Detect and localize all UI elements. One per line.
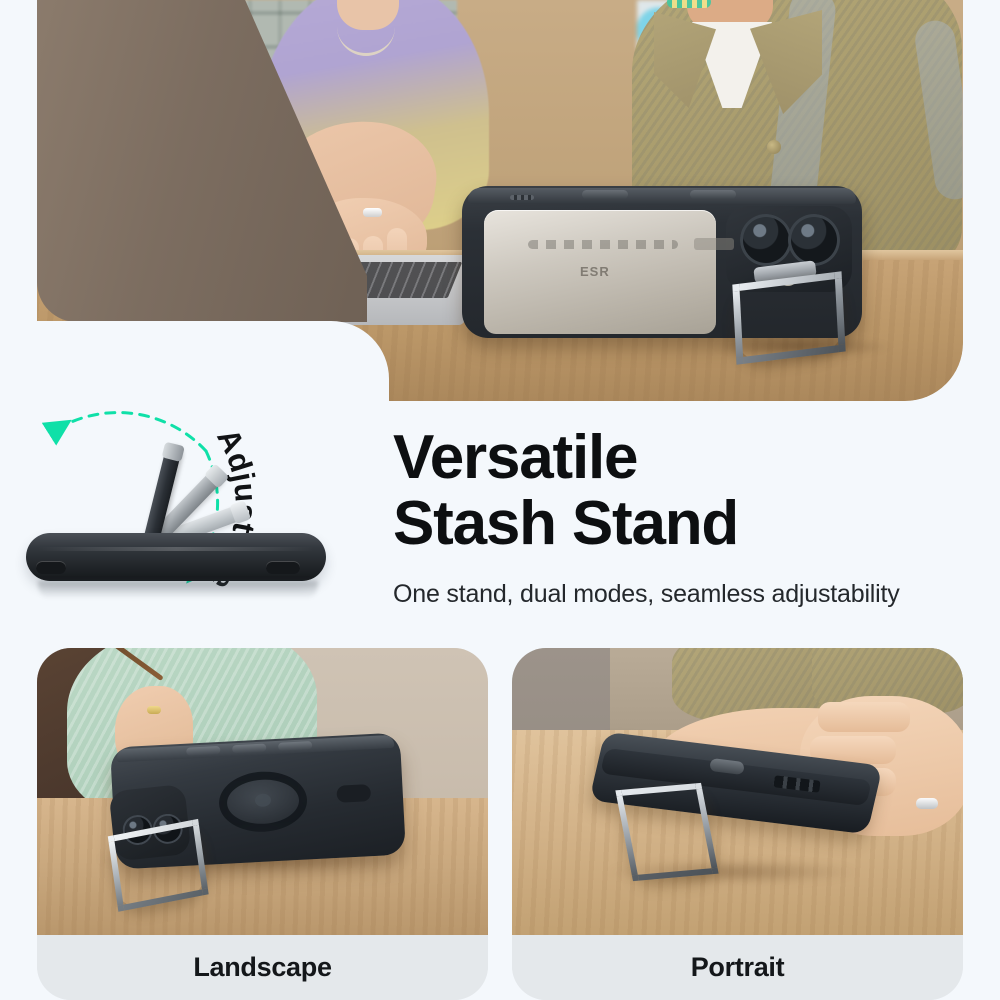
body-notch-right bbox=[266, 561, 300, 574]
esr-brand-logo: ESR bbox=[580, 264, 610, 279]
hero-product: ESR bbox=[462, 186, 882, 361]
headline-line-1: Versatile bbox=[393, 425, 993, 491]
speaker-grille bbox=[510, 195, 534, 200]
caption-bar-portrait: Portrait bbox=[512, 935, 963, 1000]
headline-block: Versatile Stash Stand One stand, dual mo… bbox=[393, 425, 993, 609]
camera-lens bbox=[788, 214, 840, 266]
caption-landscape: Landscape bbox=[193, 952, 331, 983]
body-notch-left bbox=[36, 561, 66, 574]
surface-reflection bbox=[38, 581, 318, 603]
middle-band: Adjustabe Versatile Stash Stand One stan… bbox=[0, 401, 1000, 633]
power-button bbox=[582, 190, 628, 199]
mode-card-portrait: Portrait bbox=[512, 648, 963, 1000]
cardigan-button bbox=[767, 140, 781, 154]
ring-kickstand bbox=[615, 783, 718, 881]
arrow-left bbox=[54, 413, 206, 451]
portrait-photo bbox=[512, 648, 963, 935]
phone-case: ESR bbox=[462, 186, 862, 338]
volume-button bbox=[690, 190, 736, 199]
finger-ring bbox=[147, 706, 161, 714]
side-pill bbox=[336, 784, 371, 803]
caption-portrait: Portrait bbox=[691, 952, 785, 983]
hero-photo-panel: ESR bbox=[37, 0, 963, 401]
phone-landscape bbox=[110, 732, 406, 869]
subtitle: One stand, dual modes, seamless adjustab… bbox=[393, 580, 993, 609]
mode-card-landscape: Landscape bbox=[37, 648, 488, 1000]
spec-label bbox=[694, 238, 734, 250]
bracelet bbox=[667, 0, 711, 8]
finger-ring bbox=[916, 798, 938, 809]
certification-marks bbox=[528, 240, 678, 249]
camera-lens bbox=[740, 214, 792, 266]
body-groove bbox=[38, 547, 314, 551]
landscape-photo bbox=[37, 648, 488, 935]
panel-notch bbox=[37, 321, 389, 401]
caption-bar-landscape: Landscape bbox=[37, 935, 488, 1000]
headline-line-2: Stash Stand bbox=[393, 491, 993, 557]
finger-ring bbox=[363, 208, 382, 217]
product-feature-page: ESR bbox=[0, 0, 1000, 1000]
adjustable-kickstand-diagram: Adjustabe bbox=[8, 409, 368, 633]
